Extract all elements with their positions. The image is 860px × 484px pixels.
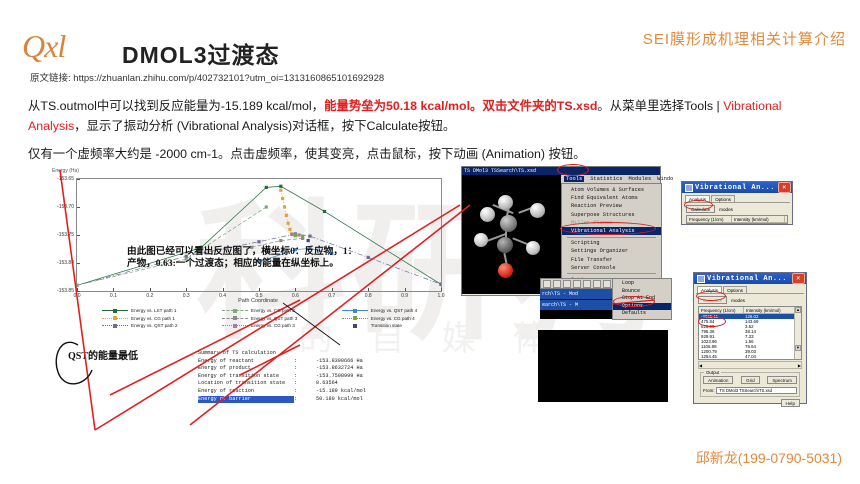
legend-item: Energy vs. CG path 4 [342,316,462,321]
p1-part-b: 。从菜单里选择Tools | [597,99,723,113]
materials-studio-window[interactable]: TS DMol3 TSSearch\TS.xsd ToolsStatistics… [461,166,661,296]
summary-row: Energy of reactant:-153.8398666 Ha [198,358,423,366]
pause-icon[interactable] [593,280,601,288]
col-intensity: Intensity (km/mol) [744,307,797,313]
legend-label: Energy vs. LST path 1 [131,308,176,313]
context-menu-item-bounce[interactable]: Bounce [613,288,671,296]
loop-icon[interactable] [603,280,611,288]
legend-swatch [342,323,368,328]
ms-titlebar: TS DMol3 TSSearch\TS.xsd [462,167,660,175]
ms-menubar[interactable]: ToolsStatisticsModulesWindo [561,175,660,183]
chart-ytick: -153.80 [57,260,74,266]
context-menu-item-stop-at-end[interactable]: Stop At End [613,295,671,303]
tab-analysis[interactable]: Analysis [697,286,722,293]
close-icon[interactable]: ✕ [792,273,805,284]
molecule-viewer[interactable] [462,175,561,294]
summary-key: Location of transition state [198,380,294,388]
dialog2-frequency-table[interactable]: Frequency (1/cm) Intensity (km/mol) -206… [698,306,802,360]
tab-analysis[interactable]: Analysis [685,195,710,202]
menu-item-settings-organizer[interactable]: Settings Organizer [562,247,661,255]
ms-menu-tools[interactable]: Tools [564,176,584,182]
legend-label: Energy vs. CG path 4 [371,316,415,321]
slide-root: 科研狗 的 自 媒 体 Qxl DMOL3过渡态 SEI膜形成机理相关计算介绍 … [0,0,860,484]
menu-separator [567,273,656,274]
play-icon[interactable] [583,280,591,288]
chart-legend: Energy vs. LST path 1Energy vs. CG path … [102,308,462,331]
chart-data-point [439,283,441,286]
dialog2-calculate-row: Calculate modes [698,296,802,304]
p1-part-a: 从TS.outmol中可以找到反应能量为-15.189 kcal/mol， [28,99,324,113]
menu-item-server-console[interactable]: Server Console [562,264,661,272]
summary-key: Energy of barrier [198,396,294,404]
paragraph-3: 仅有一个虚频率大约是 -2000 cm-1。点击虚频率，使其变亮，点击鼠标，按下… [28,146,840,162]
dialog1-tabs[interactable]: Analysis Options [682,193,792,202]
dialog1-frequency-table[interactable]: Frequency (1/cm) Intensity (km/mol) [686,215,788,224]
atom-carbon [497,237,513,253]
chart-plot-area: -153.65-153.70-153.75-153.80-153.850.00.… [76,178,442,292]
chart-series-line [77,186,441,285]
legend-row: Energy vs. CG path 1Energy vs. QST path … [102,316,462,321]
chart-data-point [265,205,268,208]
menu-item-find-equivalent-atoms[interactable]: Find Equivalent Atoms [562,194,661,202]
animation-toolbar[interactable] [540,278,614,289]
chart-data-point [283,205,286,208]
atom-oxygen [498,263,513,278]
rewind-icon[interactable] [553,280,561,288]
legend-label: Energy vs. CG path 3 [251,323,295,328]
chart-data-point [285,214,288,217]
intensity-value: 47.04 [743,354,795,359]
vibrational-analysis-dialog-1[interactable]: Vibrational An... ✕ Analysis Options Cal… [681,181,793,225]
atom-hydrogen [474,233,488,247]
close-icon[interactable]: ✕ [778,182,791,193]
legend-label: Energy vs. CG path 1 [131,316,175,321]
legend-label: Energy vs. QST path 4 [371,308,417,313]
scroll-left-icon[interactable]: ◀ [699,363,702,368]
brand-logo: Qxl [22,28,65,65]
menu-item-miller-planes: Miller Planes [562,219,661,227]
p1-highlight-2: Vibrational [723,99,781,113]
legend-label: Energy vs. CG path 2 [251,308,295,313]
chart-xtick-mark [405,288,406,291]
summary-title: Summary of TS calculation [198,350,423,358]
from-row: From: TS DMol3 TSSearch\TS.xsd [703,387,797,394]
legend-row: Energy vs. LST path 1Energy vs. CG path … [102,308,462,313]
frequency-row[interactable]: 1254.4547.04 [699,354,801,359]
summary-row: Energy of transition state:-153.7598999 … [198,373,423,381]
chart-ytick: -153.85 [57,288,74,294]
project-list[interactable]: rch\TS - Modearch\TS - M [540,289,612,319]
chart-data-point [257,240,260,243]
chart-ytick-mark [77,263,80,264]
chart-ytick-mark [77,179,80,180]
horizontal-scrollbar[interactable]: ◀ ▶ [698,361,802,369]
context-menu-item-loop[interactable]: Loop [613,280,671,288]
header-banner: SEI膜形成机理相关计算介绍 [643,28,846,49]
legend-label: Transition state [371,323,402,328]
summary-value: -153.8398666 Ha [316,358,363,366]
summary-row: Location of transition state:0.63564 [198,380,423,388]
paragraph-2: Analysis，显示了振动分析 (Vibrational Analysis)对… [28,118,840,134]
project-row[interactable]: earch\TS - M [540,300,612,310]
summary-key: Energy of product [198,365,294,373]
legend-swatch [222,316,248,321]
modes-label: modes [731,298,745,303]
legend-label: Energy vs. QST path 2 [131,323,177,328]
chart-data-point [323,210,326,213]
stop-icon[interactable] [563,280,571,288]
source-link[interactable]: 原文链接: https://zhuanlan.zhihu.com/p/40273… [30,70,384,84]
dialog1-body: Calculate modes Frequency (1/cm) Intensi… [684,202,790,226]
source-label: 原文链接: [30,73,71,84]
menu-item-superpose-structures[interactable]: Superpose Structures [562,211,661,219]
legend-swatch [342,316,368,321]
summary-value: -153.8632724 Ha [316,365,363,373]
chart-data-point [308,235,311,238]
output-legend: Output [704,370,721,375]
chart-series-line [281,190,292,234]
menu-item-file-transfer[interactable]: File Transfer [562,256,661,264]
grid-button[interactable]: Grid [741,376,760,384]
table-header-row: Frequency (1/cm) Intensity (km/mol) [699,307,801,314]
atom-hydrogen [530,203,545,218]
molecule-animation-panel[interactable] [538,330,668,402]
dialog2-body: Calculate modes Frequency (1/cm) Intensi… [696,293,804,411]
menu-separator [567,237,656,238]
col-frequency: Frequency (1/cm) [687,216,732,222]
animation-context-menu[interactable]: LoopBounceStop At EndOptionsDefaults [612,278,672,320]
window-icon [697,275,705,283]
help-button[interactable]: Help [781,399,800,407]
col-frequency: Frequency (1/cm) [699,307,744,313]
summary-value: 50.180 kcal/mol [316,396,363,404]
summary-colon: : [294,380,316,388]
vibrational-analysis-dialog-2[interactable]: Vibrational An... ✕ Analysis Options Cal… [693,272,807,404]
summary-key: Energy of transition state [198,373,294,381]
calculate-button[interactable]: Calculate [698,296,727,304]
legend-swatch [342,308,368,313]
chart-data-point [307,239,310,242]
summary-colon: : [294,388,316,396]
summary-row: Energy of product:-153.8632724 Ha [198,365,423,373]
chart-ytick: -153.65 [57,176,74,182]
dialog2-titlebar: Vibrational An... ✕ [694,273,806,284]
summary-value: 0.63564 [316,380,338,388]
legend-item: Energy vs. QST path 4 [342,308,462,313]
summary-colon: : [294,365,316,373]
chart-xtick-mark [223,288,224,291]
table-header-row: Frequency (1/cm) Intensity (km/mol) [687,216,787,223]
chart-annotation: 由此图已经可以看出反应图了，横坐标0：反应物，1： 产物，0.63:一个过渡态；… [127,246,387,270]
summary-key: Energy of reactant [198,358,294,366]
summary-row: Energy of barrier:50.180 kcal/mol [198,396,423,404]
next-frame-icon[interactable] [573,280,581,288]
summary-key: Energy of reaction [198,388,294,396]
chart-xtick-mark [295,288,296,291]
calculate-button[interactable]: Calculate [686,205,715,213]
chart-annotation-line-2: 产物，0.63:一个过渡态；相应的能量在纵坐标上。 [127,258,387,270]
animation-button[interactable]: Animation [703,376,733,384]
project-row[interactable]: rch\TS - Mod [540,289,612,299]
dialog1-titlebar: Vibrational An... ✕ [682,182,792,193]
chart-data-point [265,186,268,189]
summary-row: Energy of reaction:-15.189 kcal/mol [198,388,423,396]
summary-colon: : [294,358,316,366]
legend-swatch [102,308,128,313]
atom-hydrogen [480,207,495,222]
chart-svg [77,179,441,291]
help-row: Help [700,399,800,407]
legend-item: Energy vs. CG path 1 [102,316,222,321]
source-url[interactable]: https://zhuanlan.zhihu.com/p/402732101?u… [73,73,384,84]
legend-item: Energy vs. LST path 1 [102,308,222,313]
legend-label: Energy vs. QST path 3 [251,316,297,321]
frequency-value: 1254.45 [699,354,743,359]
summary-value: -153.7598999 Ha [316,373,363,381]
legend-item: Energy vs. QST path 2 [102,323,222,328]
from-input[interactable]: TS DMol3 TSSearch\TS.xsd [716,387,797,394]
vertical-scrollbar[interactable]: ▲ ▼ [794,307,801,359]
chart-data-point [294,234,297,237]
chart-xtick-mark [332,288,333,291]
col-intensity: Intensity (km/mol) [732,216,785,222]
chart-ytick-mark [77,207,80,208]
context-menu-item-options[interactable]: Options [613,303,671,311]
chart-xtick-mark [259,288,260,291]
menu-item-scripting[interactable]: Scripting [562,239,661,247]
chart-xtick-mark [368,288,369,291]
chart-ytick: -153.75 [57,232,74,238]
scroll-right-icon[interactable]: ▶ [798,363,801,368]
energy-path-chart: Energy (Ha) -153.65-153.70-153.75-153.80… [32,168,462,353]
dialog2-title: Vibrational An... [707,275,787,283]
spectrum-button[interactable]: Spectrum [767,376,797,384]
chart-xtick-mark [186,288,187,291]
chart-xlabel: Path Coordinate [76,298,440,304]
tab-options[interactable]: Options [711,195,735,202]
dialog2-tabs[interactable]: Analysis Options [694,284,806,293]
menu-item-atom-volumes-surfaces[interactable]: Atom Volumes & Surfaces [562,186,661,194]
chart-ylabel: Energy (Ha) [52,168,79,174]
dialog1-calculate-row: Calculate modes [686,205,788,213]
chart-ytick-mark [77,235,80,236]
output-buttons: Animation Grid Spectrum [703,376,797,384]
prev-frame-icon[interactable] [543,280,551,288]
chart-xtick-mark [113,288,114,291]
page-title: DMOL3过渡态 [122,36,280,70]
ms-menu-modules[interactable]: Modules [629,176,652,182]
output-group: Output Animation Grid Spectrum From: TS … [700,372,800,397]
dialog1-title: Vibrational An... [695,184,775,192]
scroll-up-icon[interactable]: ▲ [795,307,801,313]
ms-menu-statistics[interactable]: Statistics [590,176,622,182]
chart-ytick: -153.70 [57,204,74,210]
chart-data-point [279,185,282,188]
atom-hydrogen [498,195,513,210]
chart-data-point [288,228,291,231]
chart-data-point [279,239,282,242]
context-menu-item-defaults[interactable]: Defaults [613,310,671,318]
legend-swatch [102,323,128,328]
legend-item: Energy vs. CG path 2 [222,308,342,313]
chart-data-point [281,197,284,200]
legend-item: Energy vs. QST path 3 [222,316,342,321]
p1-highlight-1: 能量势垒为50.18 kcal/mol。双击文件夹的TS.xsd [324,99,597,113]
chart-data-point [77,284,79,287]
chart-data-point [279,189,282,192]
legend-item: Transition state [342,323,462,328]
legend-swatch [102,316,128,321]
chart-data-point [287,222,290,225]
legend-item: Energy vs. CG path 3 [222,323,342,328]
chart-xtick-mark [150,288,151,291]
atom-hydrogen [526,241,540,255]
window-icon [685,184,693,192]
ms-menu-windo[interactable]: Windo [657,176,673,182]
legend-row: Energy vs. QST path 2Energy vs. CG path … [102,323,462,328]
scroll-down-icon[interactable]: ▼ [795,345,801,351]
legend-swatch [222,308,248,313]
chart-annotation-line-1: 由此图已经可以看出反应图了，横坐标0：反应物，1： [127,246,387,258]
modes-label: modes [719,207,733,212]
summary-colon: : [294,396,316,404]
chart-xtick-mark [77,288,78,291]
paragraph-1: 从TS.outmol中可以找到反应能量为-15.189 kcal/mol，能量势… [28,98,840,114]
p2-text: ，显示了振动分析 (Vibrational Analysis)对话框，按下Cal… [74,119,455,133]
p2-highlight: Analysis [28,119,74,133]
chart-ytick-mark [77,291,80,292]
summary-colon: : [294,373,316,381]
menu-item-vibrational-analysis[interactable]: Vibrational Analysis [562,227,661,235]
chart-xtick-mark [441,288,442,291]
from-label: From: [703,388,714,393]
atom-carbon [500,215,517,232]
legend-swatch [222,323,248,328]
tab-options[interactable]: Options [723,286,747,293]
footer-contact: 邱新龙(199-0790-5031) [696,448,842,468]
qst-annotation: QST的能量最低 [68,347,138,362]
menu-item-reaction-preview[interactable]: Reaction Preview [562,202,661,210]
chart-data-point [301,235,304,238]
summary-value: -15.189 kcal/mol [316,388,366,396]
chart-data-point [290,233,293,236]
ts-summary-block: Summary of TS calculation Energy of reac… [198,350,423,403]
